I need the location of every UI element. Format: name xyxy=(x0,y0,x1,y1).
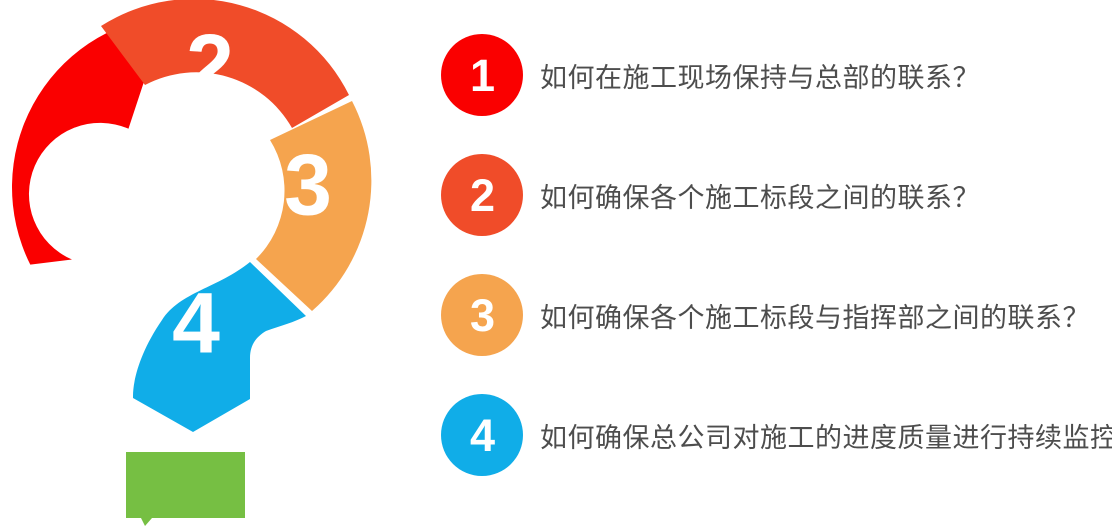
legend-text-3: 如何确保各个施工标段与指挥部之间的联系？ xyxy=(540,296,1090,335)
qmark-segment-4[interactable]: 4 xyxy=(133,262,306,432)
legend-item-1[interactable]: 1 如何在施工现场保持与总部的联系？ xyxy=(441,33,980,117)
legend-text-4: 如何确保总公司对施工的进度质量进行持续监控？ xyxy=(540,416,1112,455)
qmark-segment-3-number: 3 xyxy=(284,138,332,234)
question-mark-dot[interactable] xyxy=(126,452,245,526)
legend-badge-3[interactable]: 3 xyxy=(441,274,523,356)
qmark-segment-3[interactable]: 3 xyxy=(256,101,371,311)
qmark-segment-2[interactable]: 2 xyxy=(101,0,349,128)
legend-text-2: 如何确保各个施工标段之间的联系？ xyxy=(540,176,980,215)
legend-item-2[interactable]: 2 如何确保各个施工标段之间的联系？ xyxy=(441,153,980,237)
legend-list: 1 如何在施工现场保持与总部的联系？ 2 如何确保各个施工标段之间的联系？ 3 … xyxy=(441,0,1112,526)
qmark-segment-4-number: 4 xyxy=(172,276,220,372)
qmark-segment-1-number: 1 xyxy=(47,136,95,232)
legend-badge-2[interactable]: 2 xyxy=(441,154,523,236)
legend-badge-1[interactable]: 1 xyxy=(441,34,523,116)
question-mark-graphic: 1 2 3 4 xyxy=(0,0,420,526)
infographic-canvas: 1 2 3 4 1 如 xyxy=(0,0,1112,526)
legend-item-4[interactable]: 4 如何确保总公司对施工的进度质量进行持续监控？ xyxy=(441,393,1112,477)
qmark-segment-2-number: 2 xyxy=(186,18,234,114)
legend-badge-4[interactable]: 4 xyxy=(441,394,523,476)
question-mark-dot-shape[interactable] xyxy=(126,452,245,526)
legend-item-3[interactable]: 3 如何确保各个施工标段与指挥部之间的联系？ xyxy=(441,273,1090,357)
legend-text-1: 如何在施工现场保持与总部的联系？ xyxy=(540,56,980,95)
